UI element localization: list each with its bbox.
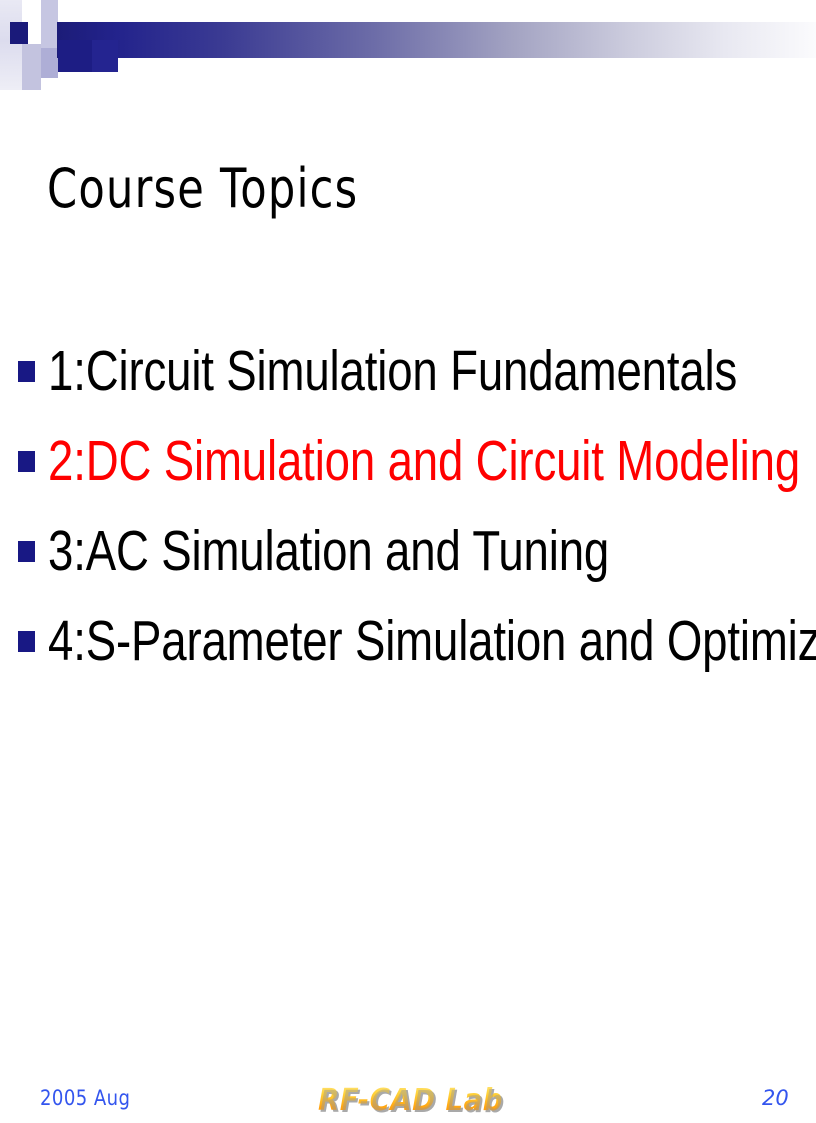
bullet-square-icon: [18, 361, 35, 382]
page-number: 20: [762, 1086, 789, 1110]
slide-canvas: Course Topics 1:Circuit Simulation Funda…: [0, 0, 816, 1123]
list-item-label: 3:AC Simulation and Tuning: [48, 520, 609, 582]
list-item: 2:DC Simulation and Circuit Modeling: [0, 430, 816, 520]
bullet-square-icon: [18, 541, 35, 562]
footer-logo: RF-CAD Lab: [318, 1083, 503, 1118]
header-deco-pale-mid-band: [41, 0, 58, 50]
header-deco-pale-left-band: [0, 0, 22, 90]
bullet-square-icon: [18, 451, 35, 472]
list-item: 1:Circuit Simulation Fundamentals: [0, 340, 816, 430]
header-deco-blue-block-a: [58, 40, 92, 72]
topic-list: 1:Circuit Simulation Fundamentals 2:DC S…: [0, 340, 816, 700]
header-deco-navy-square: [10, 22, 28, 44]
list-item: 3:AC Simulation and Tuning: [0, 520, 816, 610]
list-item: 4:S-Parameter Simulation and Optimizatio…: [0, 610, 816, 700]
footer-date: 2005 Aug: [40, 1086, 130, 1110]
bullet-square-icon: [18, 631, 35, 652]
header-deco-lower-band-b: [41, 48, 58, 78]
header-deco-blue-block-b: [92, 40, 118, 72]
header-gradient-bar: [57, 22, 816, 58]
list-item-label: 1:Circuit Simulation Fundamentals: [48, 340, 737, 402]
list-item-label: 4:S-Parameter Simulation and Optimizatio…: [48, 610, 816, 672]
header-deco-lower-band-a: [22, 44, 41, 90]
page-title: Course Topics: [47, 158, 358, 220]
list-item-label: 2:DC Simulation and Circuit Modeling: [48, 430, 800, 492]
